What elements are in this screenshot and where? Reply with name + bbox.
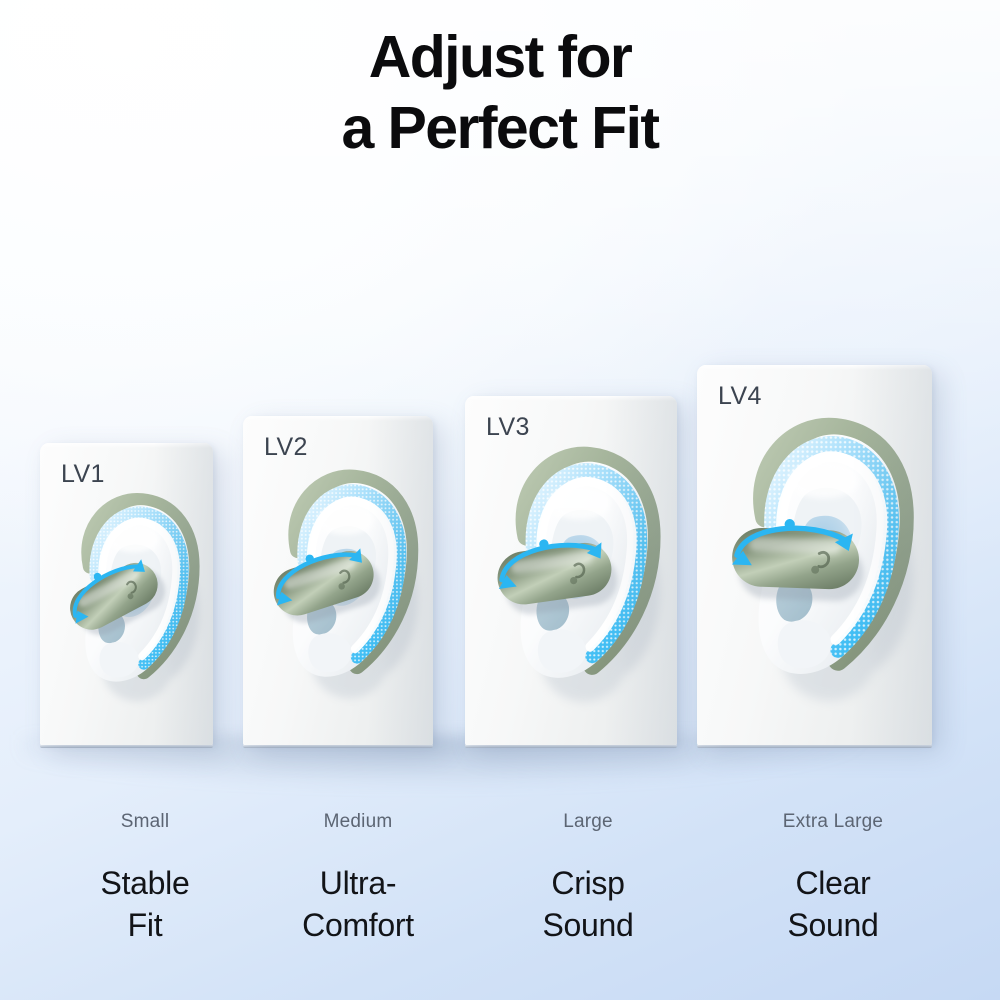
benefit-line-2: Sound — [723, 905, 943, 947]
level-label-lv2: LV2 — [264, 433, 308, 462]
level-label-lv3: LV3 — [486, 413, 530, 442]
fit-level-card-lv4[interactable]: LV4 — [697, 365, 932, 745]
size-column-lv4: Extra LargeClearSound — [723, 812, 943, 946]
size-name-lv2: Medium — [248, 812, 468, 831]
benefit-line-1: Crisp — [478, 863, 698, 905]
benefit-line-1: Ultra- — [248, 863, 468, 905]
fit-level-card-lv3[interactable]: LV3 — [465, 396, 677, 745]
ear-illustration-lv2 — [243, 416, 433, 745]
benefit-text-lv2: Ultra-Comfort — [248, 863, 468, 946]
benefit-text-lv3: CrispSound — [478, 863, 698, 946]
level-label-lv1: LV1 — [61, 460, 105, 489]
size-label-row: SmallStableFitMediumUltra-ComfortLargeCr… — [0, 812, 1000, 992]
size-column-lv3: LargeCrispSound — [478, 812, 698, 946]
size-name-lv3: Large — [478, 812, 698, 831]
benefit-line-1: Clear — [723, 863, 943, 905]
ear-illustration-lv3 — [465, 396, 677, 745]
benefit-line-2: Fit — [35, 905, 255, 947]
fit-level-card-lv1[interactable]: LV1 — [40, 443, 213, 745]
size-column-lv2: MediumUltra-Comfort — [248, 812, 468, 946]
benefit-line-2: Comfort — [248, 905, 468, 947]
benefit-line-2: Sound — [478, 905, 698, 947]
fit-level-card-lv2[interactable]: LV2 — [243, 416, 433, 745]
level-label-lv4: LV4 — [718, 382, 762, 411]
size-name-lv1: Small — [35, 812, 255, 831]
size-name-lv4: Extra Large — [723, 812, 943, 831]
size-column-lv1: SmallStableFit — [35, 812, 255, 946]
benefit-text-lv4: ClearSound — [723, 863, 943, 946]
ear-illustration-lv4 — [697, 365, 932, 745]
benefit-line-1: Stable — [35, 863, 255, 905]
benefit-text-lv1: StableFit — [35, 863, 255, 946]
